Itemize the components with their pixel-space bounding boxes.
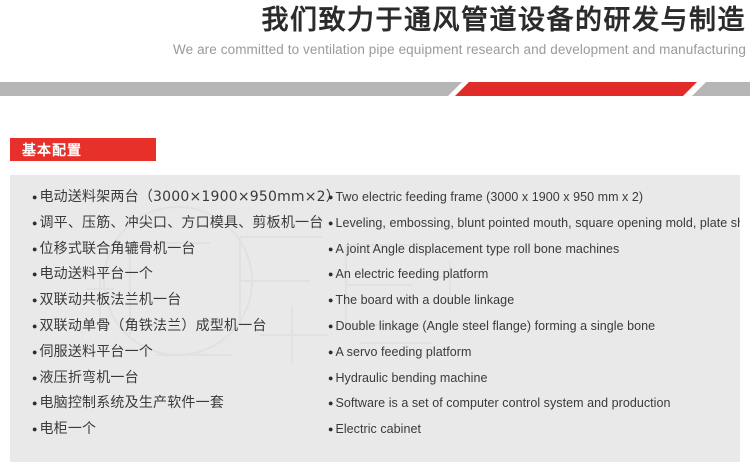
spec-item-label: 电动送料平台一个 xyxy=(39,262,153,288)
spec-list-item-cn: ● 电动送料平台一个 xyxy=(32,262,320,288)
specification-column-chinese: ● 电动送料架两台（3000×1900×950mm×2） ● 调平、压筋、冲尖口… xyxy=(10,175,320,462)
spec-item-label: 伺服送料平台一个 xyxy=(39,340,153,366)
bullet-icon: ● xyxy=(32,340,37,366)
spec-list-item-en: ● Two electric feeding frame (3000 x 190… xyxy=(328,185,740,211)
spec-item-label: Electric cabinet xyxy=(335,417,421,443)
specification-panel: ● 电动送料架两台（3000×1900×950mm×2） ● 调平、压筋、冲尖口… xyxy=(10,175,740,462)
page-subtitle: We are committed to ventilation pipe equ… xyxy=(173,40,746,60)
spec-list-item-en: ● Software is a set of computer control … xyxy=(328,391,740,417)
spec-list-item-cn: ● 调平、压筋、冲尖口、方口模具、剪板机一台 xyxy=(32,211,320,237)
spec-list-item-en: ● Double linkage (Angle steel flange) fo… xyxy=(328,314,740,340)
bullet-icon: ● xyxy=(328,237,333,263)
spec-item-label: 位移式联合角辘骨机一台 xyxy=(39,237,195,263)
section-badge-label: 基本配置 xyxy=(10,140,82,160)
spec-item-label: Hydraulic bending machine xyxy=(335,366,487,392)
spec-item-label: An electric feeding platform xyxy=(335,262,488,288)
bullet-icon: ● xyxy=(328,391,333,417)
spec-list-item-cn: ● 双联动单骨（角铁法兰）成型机一台 xyxy=(32,314,320,340)
spec-list-item-cn: ● 电柜一个 xyxy=(32,417,320,443)
bullet-icon: ● xyxy=(32,211,37,237)
bullet-icon: ● xyxy=(32,288,37,314)
specification-columns: ● 电动送料架两台（3000×1900×950mm×2） ● 调平、压筋、冲尖口… xyxy=(10,175,740,462)
bullet-icon: ● xyxy=(328,288,333,314)
spec-list-item-en: ● The board with a double linkage xyxy=(328,288,740,314)
bullet-icon: ● xyxy=(328,417,333,443)
bullet-icon: ● xyxy=(32,366,37,392)
bullet-icon: ● xyxy=(32,185,37,211)
spec-item-label: 调平、压筋、冲尖口、方口模具、剪板机一台 xyxy=(39,211,323,237)
spec-item-label: 电柜一个 xyxy=(39,417,96,443)
bullet-icon: ● xyxy=(32,314,37,340)
spec-list-item-cn: ● 位移式联合角辘骨机一台 xyxy=(32,237,320,263)
spec-item-label: 液压折弯机一台 xyxy=(39,366,138,392)
spec-list-item-en: ● Leveling, embossing, blunt pointed mou… xyxy=(328,211,740,237)
spec-list-item-en: ● A joint Angle displacement type roll b… xyxy=(328,237,740,263)
stripe-segment-gray-left xyxy=(0,82,462,96)
spec-list-item-en: ● Electric cabinet xyxy=(328,417,740,443)
spec-item-label: The board with a double linkage xyxy=(335,288,514,314)
bullet-icon: ● xyxy=(32,237,37,263)
spec-item-label: Two electric feeding frame (3000 x 1900 … xyxy=(335,185,643,211)
spec-list-item-en: ● Hydraulic bending machine xyxy=(328,366,740,392)
bullet-icon: ● xyxy=(328,366,333,392)
bullet-icon: ● xyxy=(328,314,333,340)
spec-item-label: A joint Angle displacement type roll bon… xyxy=(335,237,619,263)
bullet-icon: ● xyxy=(32,391,37,417)
spec-list-item-cn: ● 伺服送料平台一个 xyxy=(32,340,320,366)
page-title: 我们致力于通风管道设备的研发与制造 xyxy=(262,4,747,38)
bullet-icon: ● xyxy=(328,262,333,288)
spec-item-label: 双联动共板法兰机一台 xyxy=(39,288,181,314)
bullet-icon: ● xyxy=(328,340,333,366)
stripe-segment-red xyxy=(455,82,697,96)
spec-list-item-en: ● A servo feeding platform xyxy=(328,340,740,366)
spec-list-item-cn: ● 双联动共板法兰机一台 xyxy=(32,288,320,314)
spec-list-item-cn: ● 电动送料架两台（3000×1900×950mm×2） xyxy=(32,185,320,211)
bullet-icon: ● xyxy=(32,262,37,288)
specification-column-english: ● Two electric feeding frame (3000 x 190… xyxy=(320,175,740,462)
bullet-icon: ● xyxy=(328,211,333,237)
page-header: 我们致力于通风管道设备的研发与制造 We are committed to ve… xyxy=(0,0,750,78)
spec-item-label: 电脑控制系统及生产软件一套 xyxy=(39,391,224,417)
spec-list-item-en: ● An electric feeding platform xyxy=(328,262,740,288)
stripe-segment-gray-right xyxy=(692,82,750,96)
spec-item-label: 双联动单骨（角铁法兰）成型机一台 xyxy=(39,314,266,340)
spec-item-label: Software is a set of computer control sy… xyxy=(335,391,670,417)
spec-item-label: Leveling, embossing, blunt pointed mouth… xyxy=(335,211,740,237)
decorative-stripe-band xyxy=(0,82,750,96)
spec-item-label: 电动送料架两台（3000×1900×950mm×2） xyxy=(39,185,340,211)
spec-list-item-cn: ● 电脑控制系统及生产软件一套 xyxy=(32,391,320,417)
spec-list-item-cn: ● 液压折弯机一台 xyxy=(32,366,320,392)
bullet-icon: ● xyxy=(328,185,333,211)
section-badge: 基本配置 xyxy=(10,138,156,161)
spec-item-label: A servo feeding platform xyxy=(335,340,471,366)
bullet-icon: ● xyxy=(32,417,37,443)
spec-item-label: Double linkage (Angle steel flange) form… xyxy=(335,314,655,340)
